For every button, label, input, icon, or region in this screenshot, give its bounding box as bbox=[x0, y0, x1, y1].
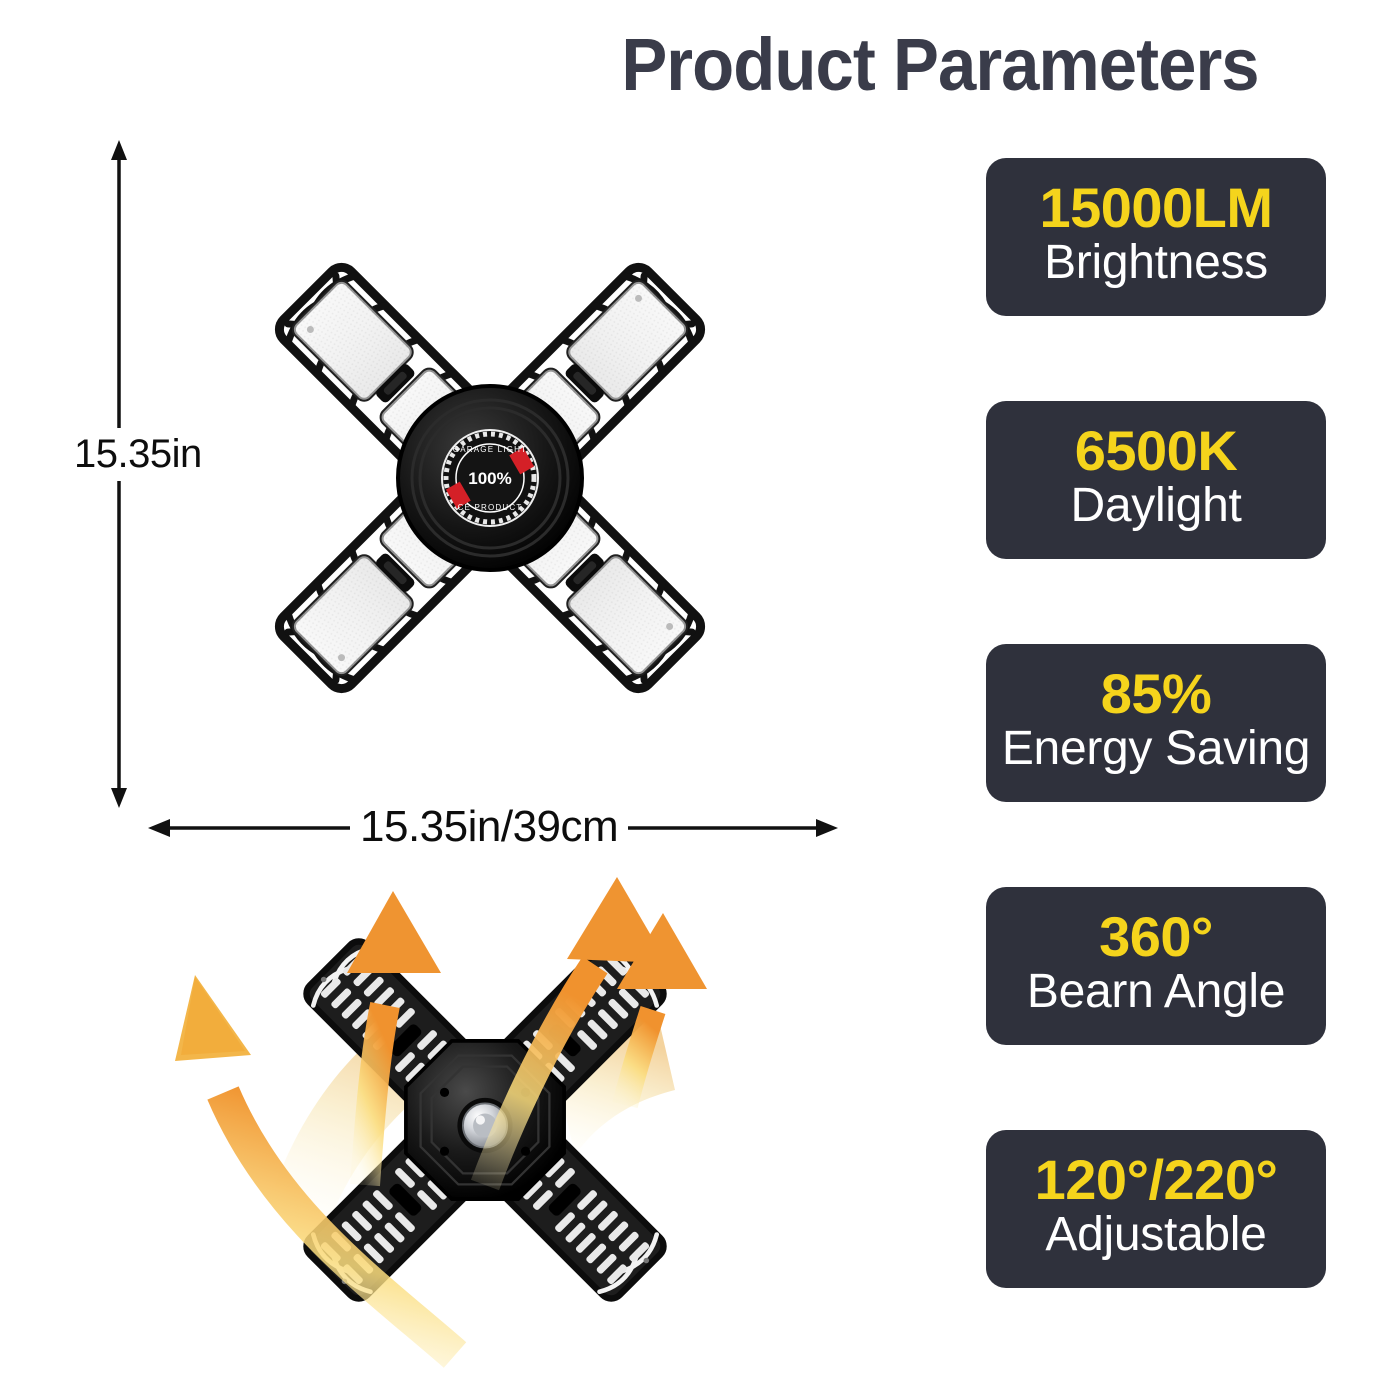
parameter-value: 85% bbox=[1101, 665, 1212, 723]
svg-text:100%: 100% bbox=[468, 469, 511, 488]
parameter-card-brightness[interactable]: 15000LM Brightness bbox=[986, 158, 1326, 316]
product-illustration-area: 15.35in 15.35in/39cm bbox=[0, 0, 960, 1400]
parameter-value: 15000LM bbox=[1039, 179, 1272, 237]
parameter-card-color-temperature[interactable]: 6500K Daylight bbox=[986, 401, 1326, 559]
parameter-label: Daylight bbox=[1070, 480, 1241, 532]
parameter-label: Brightness bbox=[1044, 237, 1268, 289]
parameter-card-beam-angle[interactable]: 360° Bearn Angle bbox=[986, 887, 1326, 1045]
parameter-card-adjustable-angle[interactable]: 120°/220° Adjustable bbox=[986, 1130, 1326, 1288]
product-image-back-view bbox=[155, 855, 815, 1385]
product-image-front-view: 100% GARAGE LIGHT CE PRODUCT bbox=[140, 128, 840, 828]
parameter-label: Adjustable bbox=[1045, 1209, 1266, 1261]
parameter-card-list: 15000LM Brightness 6500K Daylight 85% En… bbox=[986, 158, 1326, 1288]
svg-text:CE PRODUCT: CE PRODUCT bbox=[458, 503, 523, 512]
parameter-label: Energy Saving bbox=[1002, 723, 1310, 775]
parameter-value: 6500K bbox=[1075, 422, 1238, 480]
parameter-value: 360° bbox=[1099, 908, 1213, 966]
parameter-value: 120°/220° bbox=[1035, 1151, 1278, 1209]
svg-text:GARAGE LIGHT: GARAGE LIGHT bbox=[453, 445, 527, 454]
parameter-card-energy-saving[interactable]: 85% Energy Saving bbox=[986, 644, 1326, 802]
parameter-label: Bearn Angle bbox=[1027, 966, 1285, 1018]
hub-badge: 100% GARAGE LIGHT CE PRODUCT bbox=[442, 430, 538, 526]
